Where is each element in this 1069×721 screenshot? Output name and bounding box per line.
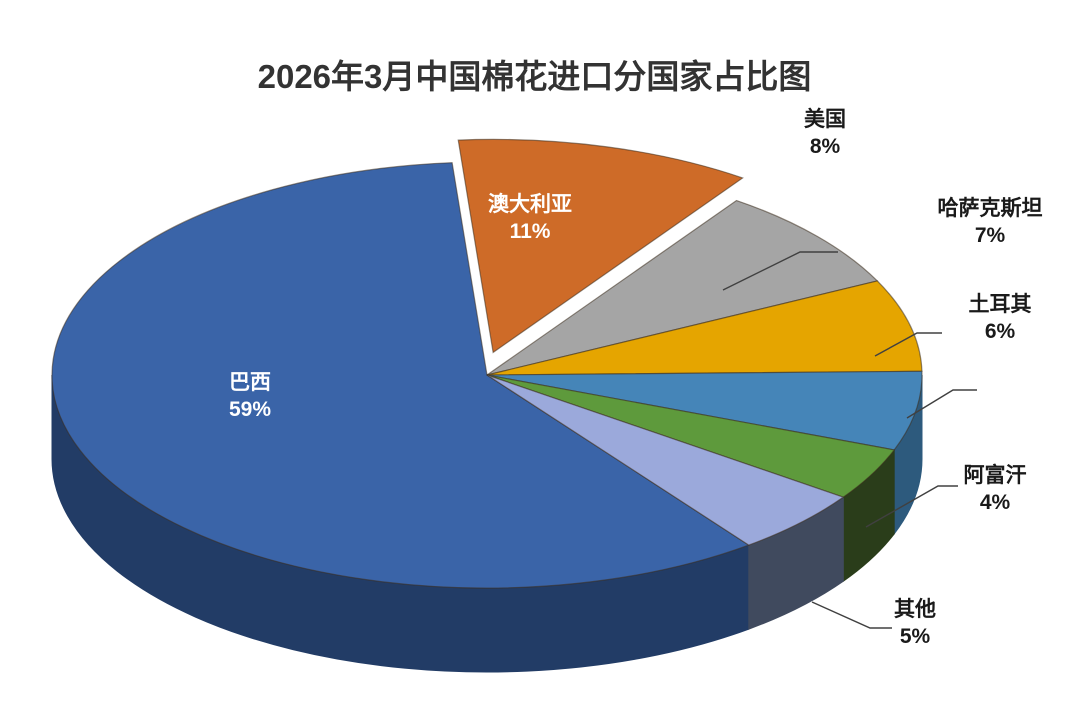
slice-label-kazakhstan: 哈萨克斯坦 7% — [910, 196, 1069, 250]
slice-label-turkey-name: 土耳其 — [969, 293, 1032, 316]
pie-chart-figure: 2026年3月中国棉花进口分国家占比图 巴西 59% 澳大利亚 11% 美国 8… — [0, 0, 1069, 721]
slice-label-kazakhstan-name: 哈萨克斯坦 — [938, 197, 1043, 220]
slice-label-other-name: 其他 — [894, 598, 936, 621]
slice-label-usa-value: 8% — [760, 134, 890, 161]
slice-label-brazil-name: 巴西 — [229, 371, 271, 394]
slice-label-kazakhstan-value: 7% — [910, 223, 1069, 250]
slice-label-australia-value: 11% — [440, 219, 620, 246]
slice-label-australia-name: 澳大利亚 — [488, 193, 572, 216]
slice-label-turkey: 土耳其 6% — [940, 292, 1060, 346]
slice-label-usa-name: 美国 — [804, 108, 846, 131]
slice-label-afghanistan-name: 阿富汗 — [964, 464, 1027, 487]
slice-label-afghanistan: 阿富汗 4% — [935, 463, 1055, 517]
slice-label-other-value: 5% — [860, 624, 970, 651]
slice-label-turkey-value: 6% — [940, 319, 1060, 346]
slice-label-australia: 澳大利亚 11% — [440, 192, 620, 246]
slice-label-brazil: 巴西 59% — [185, 370, 315, 424]
slice-label-other: 其他 5% — [860, 597, 970, 651]
slice-label-brazil-value: 59% — [185, 397, 315, 424]
slice-label-afghanistan-value: 4% — [935, 490, 1055, 517]
slice-label-usa: 美国 8% — [760, 107, 890, 161]
